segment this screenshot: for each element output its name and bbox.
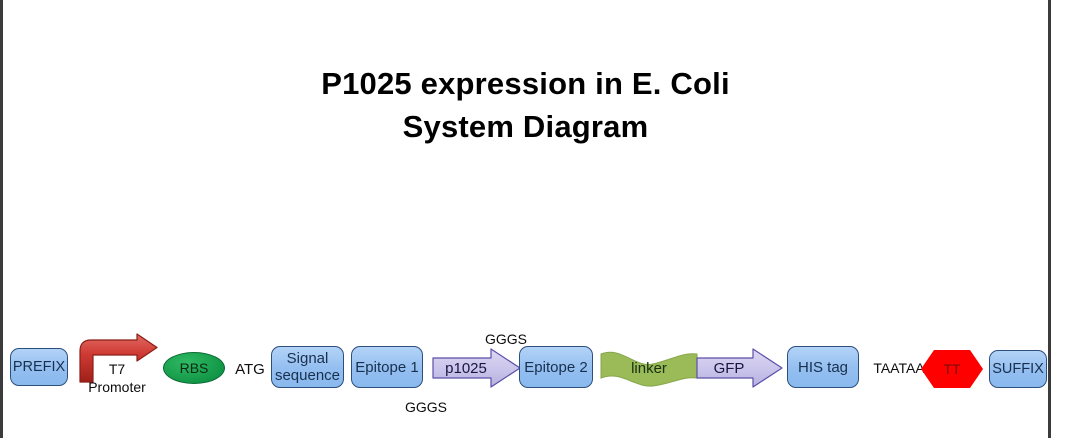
element-his-tag[interactable]: HIS tag xyxy=(787,346,859,388)
element-t7-promoter-label-line2: Promoter xyxy=(77,378,157,396)
slide-canvas: P1025 expression in E. Coli System Diagr… xyxy=(0,0,1070,438)
element-suffix-label: SUFFIX xyxy=(992,361,1044,378)
element-signal-sequence[interactable]: Signal sequence xyxy=(271,346,344,388)
element-t7-promoter-label-line1: T7 xyxy=(95,360,139,378)
element-gfp-arrow[interactable]: GFP xyxy=(697,348,783,388)
element-prefix-label: PREFIX xyxy=(13,359,65,376)
element-prefix[interactable]: PREFIX xyxy=(10,348,68,386)
element-rbs[interactable]: RBS xyxy=(163,352,225,384)
element-suffix[interactable]: SUFFIX xyxy=(989,350,1047,388)
element-p1025-arrow[interactable]: p1025 xyxy=(433,348,521,388)
element-linker-ribbon[interactable]: linker xyxy=(601,348,697,388)
element-signal-sequence-label-line2: sequence xyxy=(275,367,340,384)
element-linker-gggs-1-label: GGGS xyxy=(393,398,459,416)
element-his-tag-label: HIS tag xyxy=(798,359,848,376)
element-epitope-2[interactable]: Epitope 2 xyxy=(519,346,593,388)
element-terminator-hexagon[interactable]: TT xyxy=(921,350,983,388)
element-epitope-1-label: Epitope 1 xyxy=(355,359,418,376)
element-atg-label: ATG xyxy=(231,359,269,379)
element-signal-sequence-label-line1: Signal xyxy=(275,350,340,367)
construct-diagram: PREFIX T7 Promoter xyxy=(3,0,1070,438)
element-rbs-label: RBS xyxy=(180,360,209,376)
element-epitope-2-label: Epitope 2 xyxy=(524,359,587,376)
element-epitope-1[interactable]: Epitope 1 xyxy=(351,346,423,388)
